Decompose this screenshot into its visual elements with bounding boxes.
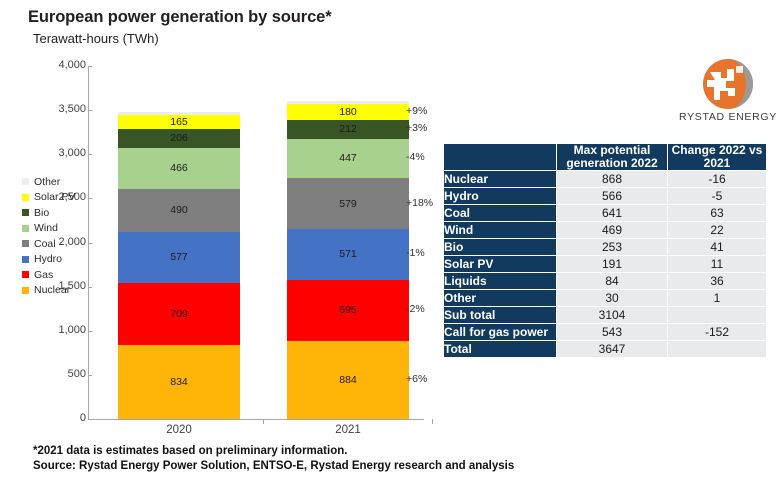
change-label-bio: +3% (406, 122, 427, 134)
chart-legend: OtherSolar PVBioWindCoalHydroGasNuclear (22, 174, 90, 298)
logo-text: RYSTAD ENERGY (676, 111, 780, 123)
table-row: Coal64163 (444, 205, 766, 221)
table-row: Hydro566-5 (444, 188, 766, 204)
table-cell-change: 36 (668, 273, 766, 289)
bar-segment-value: 709 (170, 308, 188, 320)
table-cell-max-potential: 3104 (557, 307, 667, 323)
bar-2020[interactable]: 834709577490466206165 (118, 66, 240, 419)
bar-segment-value: 834 (170, 376, 188, 388)
legend-swatch-icon (22, 194, 29, 201)
bar-segment-wind[interactable]: 466 (118, 148, 240, 189)
legend-swatch-icon (22, 178, 29, 185)
y-axis-tick-mark (88, 66, 92, 67)
table-row: Liquids8436 (444, 273, 766, 289)
bar-segment-coal[interactable]: 579 (287, 178, 409, 229)
table-cell-max-potential: 868 (557, 171, 667, 187)
table-row-label: Sub total (444, 307, 556, 323)
footnotes: *2021 data is estimates based on prelimi… (33, 444, 514, 474)
bar-segment-gas[interactable]: 709 (118, 283, 240, 346)
change-label-solar-pv: +9% (406, 105, 427, 117)
x-axis-tick-mark (432, 419, 433, 424)
bar-segment-value: 884 (339, 374, 357, 386)
table-cell-max-potential: 253 (557, 239, 667, 255)
legend-item-label: Nuclear (34, 284, 70, 296)
legend-item-label: Wind (34, 222, 58, 234)
change-label-hydro: -1% (406, 247, 425, 259)
table-cell-change: -5 (668, 188, 766, 204)
bar-segment-other[interactable] (118, 112, 240, 115)
y-axis-tick-label: 0 (28, 413, 86, 424)
y-axis-tick-mark (88, 154, 92, 155)
legend-swatch-icon (22, 225, 29, 232)
bar-segment-solar-pv[interactable]: 165 (118, 115, 240, 130)
y-axis-tick-label: 500 (28, 369, 86, 380)
table-cell-max-potential: 84 (557, 273, 667, 289)
table-cell-max-potential: 30 (557, 290, 667, 306)
table-row: Call for gas power543-152 (444, 324, 766, 340)
table-cell-change (668, 341, 766, 357)
table-cell-change: 1 (668, 290, 766, 306)
y-axis-tick-mark (88, 331, 92, 332)
legend-item-label: Coal (34, 238, 56, 250)
legend-item-label: Other (34, 176, 60, 188)
table-cell-change: 22 (668, 222, 766, 238)
table-row-label: Liquids (444, 273, 556, 289)
table-row-label: Hydro (444, 188, 556, 204)
table-header-max-potential: Max potential generation 2022 (557, 144, 667, 170)
table-cell-change: 11 (668, 256, 766, 272)
bar-segment-value: 577 (170, 251, 188, 263)
table-row-label: Wind (444, 222, 556, 238)
bar-segment-value: 180 (339, 106, 357, 118)
table-row: Bio25341 (444, 239, 766, 255)
table-cell-max-potential: 641 (557, 205, 667, 221)
bar-segment-solar-pv[interactable]: 180 (287, 104, 409, 120)
table-cell-max-potential: 469 (557, 222, 667, 238)
bar-segment-value: 212 (339, 123, 357, 135)
bar-segment-bio[interactable]: 212 (287, 120, 409, 139)
bar-segment-value: 165 (170, 116, 188, 128)
bar-segment-coal[interactable]: 490 (118, 189, 240, 232)
legend-swatch-icon (22, 256, 29, 263)
legend-swatch-icon (22, 287, 29, 294)
bar-segment-value: 447 (339, 152, 357, 164)
legend-item-label: Gas (34, 269, 53, 281)
footnote-estimates: *2021 data is estimates based on prelimi… (33, 444, 514, 459)
y-axis-tick-mark (88, 110, 92, 111)
table-body: Nuclear868-16Hydro566-5Coal64163Wind4692… (444, 171, 766, 357)
bar-segment-value: 466 (170, 162, 188, 174)
bar-segment-gas[interactable]: 695 (287, 280, 409, 341)
table-cell-change: 41 (668, 239, 766, 255)
y-axis-tick-label: 4,000 (28, 60, 86, 71)
bar-segment-value: 206 (170, 132, 188, 144)
table-cell-change: -16 (668, 171, 766, 187)
bar-segment-hydro[interactable]: 577 (118, 232, 240, 283)
bar-segment-value: 695 (339, 304, 357, 316)
legend-item-nuclear[interactable]: Nuclear (22, 283, 90, 299)
bar-segment-value: 571 (339, 248, 357, 260)
y-axis-tick-mark (88, 375, 92, 376)
x-axis-line (88, 419, 424, 420)
legend-swatch-icon (22, 240, 29, 247)
bar-segment-other[interactable] (287, 101, 409, 104)
table-row: Solar PV19111 (444, 256, 766, 272)
bar-segment-bio[interactable]: 206 (118, 129, 240, 147)
table-row: Nuclear868-16 (444, 171, 766, 187)
y-axis-tick-label: 3,000 (28, 148, 86, 159)
y-axis-tick-label: 1,000 (28, 325, 86, 336)
table-row-label: Total (444, 341, 556, 357)
legend-item-wind[interactable]: Wind (22, 221, 90, 237)
change-label-gas: -2% (406, 303, 425, 315)
legend-item-gas[interactable]: Gas (22, 267, 90, 283)
bar-segment-nuclear[interactable]: 884 (287, 341, 409, 419)
bar-2021[interactable]: 884695571579447212180 (287, 66, 409, 419)
bar-segment-nuclear[interactable]: 834 (118, 345, 240, 419)
table-cell-change (668, 307, 766, 323)
table-cell-max-potential: 543 (557, 324, 667, 340)
table-row-label: Call for gas power (444, 324, 556, 340)
table-row-label: Bio (444, 239, 556, 255)
legend-item-other[interactable]: Other (22, 174, 90, 190)
legend-item-hydro[interactable]: Hydro (22, 252, 90, 268)
bar-segment-hydro[interactable]: 571 (287, 229, 409, 279)
legend-item-label: Bio (34, 207, 49, 219)
table-header-row: Max potential generation 2022 Change 202… (444, 144, 766, 170)
rystad-energy-logo: RYSTAD ENERGY (676, 58, 780, 132)
change-label-wind: -4% (406, 151, 425, 163)
table-cell-change: -152 (668, 324, 766, 340)
globe-icon (702, 58, 754, 110)
max-potential-table: Max potential generation 2022 Change 202… (443, 143, 767, 358)
bar-segment-wind[interactable]: 447 (287, 139, 409, 178)
legend-item-label: Solar PV (34, 191, 75, 203)
table-row-label: Other (444, 290, 556, 306)
footnote-source: Source: Rystad Energy Power Solution, EN… (33, 459, 514, 474)
table-cell-change: 63 (668, 205, 766, 221)
legend-item-solar-pv[interactable]: Solar PV (22, 190, 90, 206)
table-row: Sub total3104 (444, 307, 766, 323)
legend-swatch-icon (22, 209, 29, 216)
table-row-label: Coal (444, 205, 556, 221)
bar-segment-value: 579 (339, 198, 357, 210)
x-axis-tick-mark (263, 419, 264, 424)
change-label-nuclear: +6% (406, 373, 427, 385)
legend-item-coal[interactable]: Coal (22, 236, 90, 252)
table-header-change: Change 2022 vs 2021 (668, 144, 766, 170)
y-axis-tick-label: 3,500 (28, 104, 86, 115)
change-label-coal: +18% (406, 197, 433, 209)
legend-swatch-icon (22, 271, 29, 278)
table-row: Wind46922 (444, 222, 766, 238)
table-row: Total3647 (444, 341, 766, 357)
x-axis-label-2021: 2021 (287, 424, 409, 436)
table-row-label: Nuclear (444, 171, 556, 187)
table-cell-max-potential: 566 (557, 188, 667, 204)
legend-item-bio[interactable]: Bio (22, 205, 90, 221)
table-row: Other301 (444, 290, 766, 306)
table-row-label: Solar PV (444, 256, 556, 272)
table-header-blank (444, 144, 556, 170)
bar-segment-value: 490 (170, 204, 188, 216)
y-axis-tick-mark (88, 419, 92, 420)
table-cell-max-potential: 3647 (557, 341, 667, 357)
x-axis-label-2020: 2020 (118, 424, 240, 436)
legend-item-label: Hydro (34, 253, 62, 265)
table-cell-max-potential: 191 (557, 256, 667, 272)
